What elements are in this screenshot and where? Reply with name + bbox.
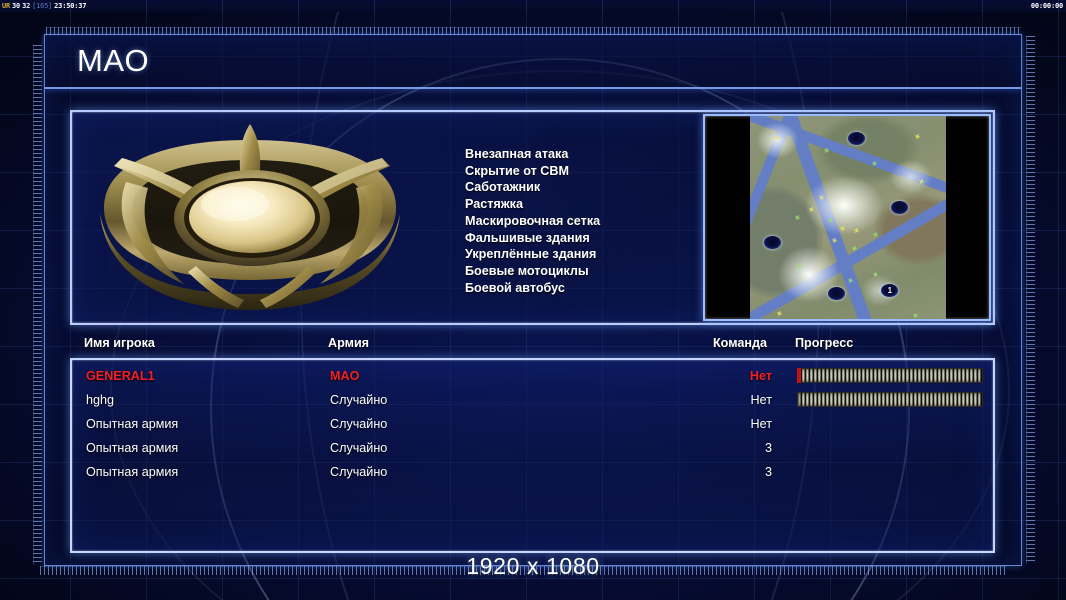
player-name-cell: Опытная армия <box>86 417 178 431</box>
player-name-cell: Опытная армия <box>86 441 178 455</box>
table-row[interactable]: Опытная армия Случайно 3 <box>72 436 993 460</box>
player-table: GENERAL1 MAO Нет hghg Случайно Нет Опытн… <box>70 358 995 553</box>
player-progress-cell <box>797 368 983 383</box>
player-team-cell[interactable]: Нет <box>732 393 772 407</box>
resolution-label: 1920 x 1080 <box>0 553 1066 580</box>
column-header-progress: Прогресс <box>795 336 853 350</box>
player-progress-cell <box>797 392 983 407</box>
player-team-cell[interactable]: Нет <box>732 417 772 431</box>
title-bar: MAO <box>45 35 1021 89</box>
player-name-cell: GENERAL1 <box>86 369 155 383</box>
ability-item: Боевой автобус <box>465 280 600 297</box>
ability-item: Скрытие от СВМ <box>465 163 600 180</box>
ability-item: Боевые мотоциклы <box>465 263 600 280</box>
hud-clock: 23:50:37 <box>53 2 87 10</box>
general-emblem-icon <box>92 122 412 318</box>
hud-tag: UR <box>1 2 11 10</box>
player-team-cell[interactable]: Нет <box>732 369 772 383</box>
table-row[interactable]: GENERAL1 MAO Нет <box>72 364 993 388</box>
minimap-start-position: 1 <box>881 284 898 297</box>
ability-item: Маскировочная сетка <box>465 213 600 230</box>
hud-grid-decoration <box>0 0 1066 12</box>
player-army-cell[interactable]: Случайно <box>330 465 387 479</box>
hud-bracket: [165] <box>31 2 53 10</box>
debug-hud-bar: UR3032[165]23:50:37 00:00:00 <box>0 0 1066 12</box>
player-army-cell[interactable]: MAO <box>330 369 359 383</box>
ruler-right-decoration <box>1026 36 1035 564</box>
player-team-cell[interactable]: 3 <box>732 465 772 479</box>
ability-item: Саботажник <box>465 179 600 196</box>
ability-item: Внезапная атака <box>465 146 600 163</box>
minimap-start-position <box>828 287 845 300</box>
hud-value-a: 30 <box>11 2 21 10</box>
player-army-cell[interactable]: Случайно <box>330 441 387 455</box>
minimap-start-position <box>848 132 865 145</box>
column-header-army: Армия <box>328 336 369 350</box>
minimap-terrain: 1 <box>750 116 946 319</box>
table-row[interactable]: hghg Случайно Нет <box>72 388 993 412</box>
army-info-panel: Внезапная атака Скрытие от СВМ Саботажни… <box>70 110 995 325</box>
player-army-cell[interactable]: Случайно <box>330 417 387 431</box>
column-header-player-name: Имя игрока <box>84 336 155 350</box>
ruler-left-decoration <box>33 45 42 565</box>
ability-item: Фальшивые здания <box>465 230 600 247</box>
progress-bar <box>797 392 983 407</box>
minimap-preview[interactable]: 1 <box>703 114 991 321</box>
hud-value-b: 32 <box>21 2 31 10</box>
table-row[interactable]: Опытная армия Случайно 3 <box>72 460 993 484</box>
page-title: MAO <box>77 43 149 79</box>
player-name-cell: Опытная армия <box>86 465 178 479</box>
abilities-list: Внезапная атака Скрытие от СВМ Саботажни… <box>465 146 600 296</box>
player-table-header: Имя игрока Армия Команда Прогресс <box>70 336 995 358</box>
player-army-cell[interactable]: Случайно <box>330 393 387 407</box>
player-name-cell: hghg <box>86 393 114 407</box>
ability-item: Растяжка <box>465 196 600 213</box>
player-team-cell[interactable]: 3 <box>732 441 772 455</box>
ability-item: Укреплённые здания <box>465 246 600 263</box>
minimap-start-position <box>764 236 781 249</box>
game-lobby-screen: UR3032[165]23:50:37 00:00:00 MAO <box>0 0 1066 600</box>
column-header-team: Команда <box>713 336 767 350</box>
progress-bar <box>797 368 983 383</box>
hud-stats-left: UR3032[165]23:50:37 <box>1 0 87 12</box>
minimap-start-position <box>891 201 908 214</box>
start-position-label: 1 <box>888 287 892 295</box>
table-row[interactable]: Опытная армия Случайно Нет <box>72 412 993 436</box>
hud-timer: 00:00:00 <box>1031 0 1063 12</box>
